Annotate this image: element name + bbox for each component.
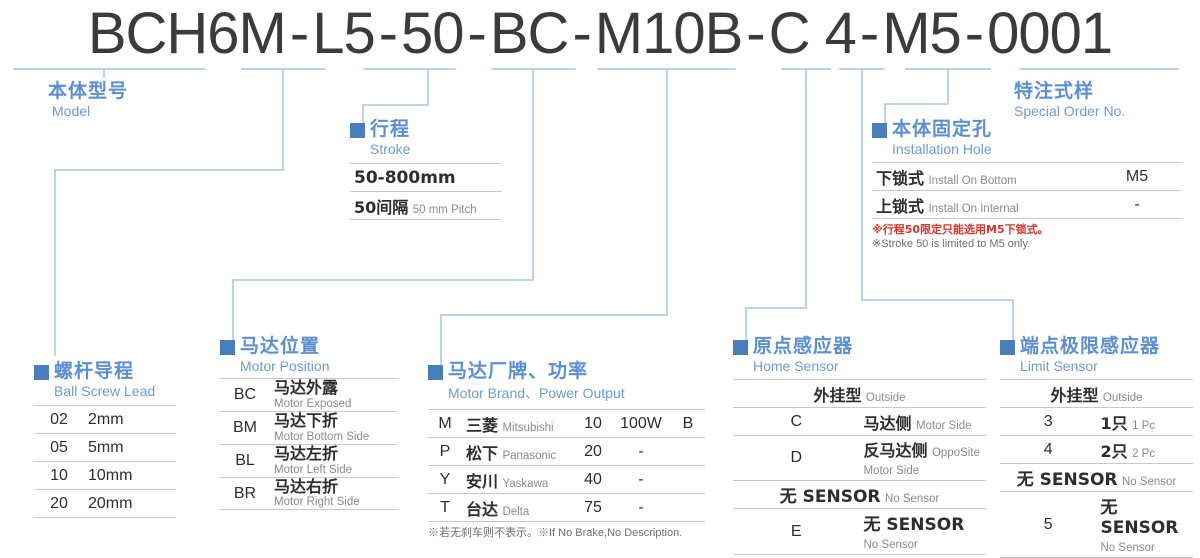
product-code: BCH6M - L5 - 50 - BC - M10B - C 4 - M5 -… <box>0 2 1200 64</box>
callout-motor-position-title: 马达位置 <box>240 337 320 356</box>
callout-motor-position-head: 马达位置 <box>220 337 398 356</box>
home-sensor-en: Motor Side <box>916 420 972 432</box>
callout-ball-screw-lead-subtitle: Ball Screw Lead <box>54 383 176 399</box>
install-internal-cn: 上锁式 <box>876 197 924 216</box>
home-sensor-code: C <box>733 408 860 436</box>
power-value: - <box>611 494 671 522</box>
table-row: 上锁式 Install On Internal - <box>872 191 1182 219</box>
motor-brand-table: M 三菱 Mitsubishi 10 100W B P 松下 Panasonic… <box>428 409 705 522</box>
brake-code <box>671 494 705 522</box>
install-internal-value: - <box>1092 191 1182 219</box>
limit-sensor-header-cn: 外挂型 <box>1050 386 1098 405</box>
code-dash-2: - <box>376 0 400 67</box>
callout-limit-sensor: 端点极限感应器 Limit Sensor 外挂型 Outside 3 1只 1 … <box>1000 337 1193 558</box>
install-note-cn: ※行程50限定只能选用M5下锁式。 <box>872 221 1182 237</box>
motor-position-cn: 马达左折 <box>274 444 338 463</box>
install-internal-label: 上锁式 Install On Internal <box>872 191 1092 219</box>
home-sensor-header-cn: 外挂型 <box>813 386 861 405</box>
callout-model-title: 本体型号 <box>48 82 128 101</box>
limit-sensor-code: 5 <box>1000 492 1097 558</box>
callout-motor-brand-power-title: 马达厂牌、功率 <box>448 362 588 381</box>
power-value: - <box>611 466 671 494</box>
callout-special-order-title: 特注式样 <box>1014 82 1094 101</box>
table-row: 05 5mm <box>34 434 176 462</box>
installation-hole-table: 下锁式 Install On Bottom M5 上锁式 Install On … <box>872 162 1182 219</box>
motor-position-desc: 马达外露 Motor Exposed <box>270 379 398 412</box>
brake-code <box>671 438 705 466</box>
table-row: 10 10mm <box>34 462 176 490</box>
code-dash-3: - <box>465 0 489 67</box>
brand-cn: 安川 <box>466 472 498 491</box>
table-row: BR 马达右折 Motor Right Side <box>220 477 398 510</box>
home-sensor-cn: 反马达侧 <box>864 441 928 460</box>
code-dash-6: - <box>857 0 881 67</box>
motor-position-cn: 马达下折 <box>274 411 338 430</box>
table-row: BL 马达左折 Motor Left Side <box>220 444 398 477</box>
code-dash-7: - <box>962 0 986 67</box>
callout-motor-position-subtitle: Motor Position <box>240 358 398 374</box>
brand-name: 安川 Yaskawa <box>462 466 575 494</box>
ball-screw-lead-table: 02 2mm 05 5mm 10 10mm 20 20mm <box>34 405 176 518</box>
callout-motor-position: 马达位置 Motor Position BC 马达外露 Motor Expose… <box>220 337 398 510</box>
callout-installation-hole-title: 本体固定孔 <box>892 120 992 139</box>
home-sensor-band-en: No Sensor <box>885 493 939 505</box>
limit-sensor-cn: 1只 <box>1101 414 1128 433</box>
home-sensor-band-cn: 无 SENSOR <box>780 487 881 507</box>
motor-position-en: Motor Exposed <box>274 398 394 410</box>
power-value: - <box>611 438 671 466</box>
callout-motor-brand-power: 马达厂牌、功率 Motor Brand、Power Output M 三菱 Mi… <box>428 362 705 540</box>
callout-limit-sensor-subtitle: Limit Sensor <box>1020 358 1193 374</box>
install-bottom-en: Install On Bottom <box>928 175 1016 187</box>
limit-sensor-table: 外挂型 Outside 3 1只 1 Pc 4 2只 2 Pc <box>1000 379 1193 558</box>
lead-value: 20mm <box>84 490 176 518</box>
callout-home-sensor: 原点感应器 Home Sensor 外挂型 Outside C 马达侧 Moto… <box>733 337 986 555</box>
home-sensor-cn: 马达侧 <box>864 414 912 433</box>
motor-position-code: BL <box>220 444 270 477</box>
callout-limit-sensor-title: 端点极限感应器 <box>1020 337 1160 356</box>
install-note: ※行程50限定只能选用M5下锁式。 ※Stroke 50 is limited … <box>872 221 1182 250</box>
bullet-square-icon <box>872 123 887 138</box>
limit-sensor-band-en: No Sensor <box>1122 476 1176 488</box>
bullet-square-icon <box>220 340 235 355</box>
lead-code: 10 <box>34 462 84 490</box>
stroke-pitch-cn: 50间隔 <box>354 198 408 217</box>
stroke-pitch-en: 50 mm Pitch <box>413 204 477 216</box>
motor-position-desc: 马达右折 Motor Right Side <box>270 477 398 510</box>
limit-sensor-code: 4 <box>1000 436 1097 464</box>
table-row: P 松下 Panasonic 20 - <box>428 438 705 466</box>
diagram-canvas: BCH6M - L5 - 50 - BC - M10B - C 4 - M5 -… <box>0 0 1200 549</box>
home-sensor-header: 外挂型 Outside <box>733 380 986 408</box>
code-segment-sensors: C 4 <box>768 0 857 67</box>
home-sensor-desc: 马达侧 Motor Side <box>860 408 987 436</box>
table-row: 5 无 SENSOR No Sensor <box>1000 492 1193 558</box>
stroke-range-cell: 50-800mm <box>350 164 502 192</box>
home-sensor-code: D <box>733 436 860 481</box>
table-row: C 马达侧 Motor Side <box>733 408 986 436</box>
install-note-en: ※Stroke 50 is limited to M5 only. <box>872 237 1182 250</box>
motor-position-desc: 马达下折 Motor Bottom Side <box>270 411 398 444</box>
callout-motor-brand-power-head: 马达厂牌、功率 <box>428 362 705 381</box>
table-row: 下锁式 Install On Bottom M5 <box>872 163 1182 191</box>
limit-sensor-cn: 无 SENSOR <box>1101 498 1179 538</box>
motor-position-cn: 马达右折 <box>274 477 338 496</box>
lead-value: 2mm <box>84 406 176 434</box>
code-segment-motor-position: BC <box>489 0 570 67</box>
callout-stroke-subtitle: Stroke <box>370 141 502 157</box>
brake-code: B <box>671 410 705 438</box>
callout-limit-sensor-head: 端点极限感应器 <box>1000 337 1193 356</box>
callout-model-head: 本体型号 <box>48 82 128 101</box>
lead-value: 10mm <box>84 462 176 490</box>
table-row: 外挂型 Outside <box>733 380 986 408</box>
table-row: BC 马达外露 Motor Exposed <box>220 379 398 412</box>
table-row: 50间隔 50 mm Pitch <box>350 192 502 220</box>
limit-sensor-header-en: Outside <box>1103 392 1143 404</box>
brand-en: Delta <box>502 506 529 518</box>
home-sensor-desc: 反马达侧 OppoSite Motor Side <box>860 436 987 481</box>
callout-home-sensor-subtitle: Home Sensor <box>753 358 986 374</box>
brand-name: 三菱 Mitsubishi <box>462 410 575 438</box>
motor-position-code: BC <box>220 379 270 412</box>
home-sensor-desc: 无 SENSOR No Sensor <box>860 509 987 555</box>
brand-cn: 三菱 <box>466 416 498 435</box>
motor-position-en: Motor Left Side <box>274 464 394 476</box>
callout-special-order-head: 特注式样 <box>1014 82 1125 101</box>
lead-code: 20 <box>34 490 84 518</box>
table-row: 外挂型 Outside <box>1000 380 1193 408</box>
home-sensor-cn: 无 SENSOR <box>864 515 965 535</box>
power-code: 40 <box>575 466 611 494</box>
brake-code <box>671 466 705 494</box>
table-row: 3 1只 1 Pc <box>1000 408 1193 436</box>
callout-special-order-subtitle: Special Order No. <box>1014 103 1125 119</box>
table-row: 50-800mm <box>350 164 502 192</box>
power-code: 75 <box>575 494 611 522</box>
code-dash-1: - <box>287 0 311 67</box>
limit-sensor-desc: 2只 2 Pc <box>1097 436 1194 464</box>
brand-en: Panasonic <box>502 450 556 462</box>
limit-sensor-en: 2 Pc <box>1132 448 1155 460</box>
limit-sensor-band-cn: 无 SENSOR <box>1017 470 1118 490</box>
code-segment-brand-power: M10B <box>594 0 744 67</box>
code-dash-4: - <box>569 0 593 67</box>
limit-sensor-code: 3 <box>1000 408 1097 436</box>
limit-sensor-band: 无 SENSOR No Sensor <box>1000 464 1193 492</box>
limit-sensor-desc: 无 SENSOR No Sensor <box>1097 492 1194 558</box>
power-code: 10 <box>575 410 611 438</box>
table-row: 无 SENSOR No Sensor <box>1000 464 1193 492</box>
motor-position-en: Motor Right Side <box>274 496 394 508</box>
limit-sensor-desc: 1只 1 Pc <box>1097 408 1194 436</box>
table-row: 4 2只 2 Pc <box>1000 436 1193 464</box>
stroke-range-value: 50-800mm <box>354 168 456 188</box>
callout-model: 本体型号 Model <box>48 82 128 119</box>
table-row: Y 安川 Yaskawa 40 - <box>428 466 705 494</box>
brand-name: 台达 Delta <box>462 494 575 522</box>
home-sensor-band: 无 SENSOR No Sensor <box>733 481 986 509</box>
bullet-square-icon <box>428 365 443 380</box>
home-sensor-en: No Sensor <box>864 539 918 551</box>
callout-ball-screw-lead-title: 螺杆导程 <box>54 362 134 381</box>
code-segment-model: BCH6M <box>87 0 287 67</box>
limit-sensor-cn: 2只 <box>1101 442 1128 461</box>
brand-code: T <box>428 494 462 522</box>
lead-code: 02 <box>34 406 84 434</box>
motor-position-table: BC 马达外露 Motor Exposed BM 马达下折 Motor Bott… <box>220 378 398 510</box>
callout-stroke-title: 行程 <box>370 120 410 139</box>
install-bottom-value: M5 <box>1092 163 1182 191</box>
bullet-square-icon <box>350 123 365 138</box>
motor-position-code: BR <box>220 477 270 510</box>
brand-cn: 台达 <box>466 500 498 519</box>
callout-installation-hole-head: 本体固定孔 <box>872 120 1182 139</box>
install-bottom-cn: 下锁式 <box>876 169 924 188</box>
code-segment-install-hole: M5 <box>881 0 962 67</box>
table-row: T 台达 Delta 75 - <box>428 494 705 522</box>
bullet-square-icon <box>34 365 49 380</box>
lead-value: 5mm <box>84 434 176 462</box>
install-internal-en: Install On Internal <box>928 203 1018 215</box>
callout-installation-hole-subtitle: Installation Hole <box>892 141 1182 157</box>
callout-ball-screw-lead: 螺杆导程 Ball Screw Lead 02 2mm 05 5mm 10 10… <box>34 362 176 518</box>
code-segment-stroke: 50 <box>400 0 465 67</box>
limit-sensor-en: No Sensor <box>1101 542 1155 554</box>
bullet-square-icon <box>1000 340 1015 355</box>
table-row: BM 马达下折 Motor Bottom Side <box>220 411 398 444</box>
table-row: M 三菱 Mitsubishi 10 100W B <box>428 410 705 438</box>
brand-note: ※若无刹车则不表示。※If No Brake,No Description. <box>428 524 705 540</box>
code-segment-special-order: 0001 <box>986 0 1113 67</box>
install-bottom-label: 下锁式 Install On Bottom <box>872 163 1092 191</box>
motor-position-en: Motor Bottom Side <box>274 431 394 443</box>
table-row: 20 20mm <box>34 490 176 518</box>
home-sensor-code: E <box>733 509 860 555</box>
table-row: D 反马达侧 OppoSite Motor Side <box>733 436 986 481</box>
callout-model-subtitle: Model <box>52 103 128 119</box>
code-dash-5: - <box>743 0 767 67</box>
brand-en: Yaskawa <box>502 478 548 490</box>
brand-en: Mitsubishi <box>502 422 553 434</box>
code-segment-lead: L5 <box>311 0 376 67</box>
callout-installation-hole: 本体固定孔 Installation Hole 下锁式 Install On B… <box>872 120 1182 250</box>
callout-stroke-head: 行程 <box>350 120 502 139</box>
callout-home-sensor-head: 原点感应器 <box>733 337 986 356</box>
limit-sensor-header: 外挂型 Outside <box>1000 380 1193 408</box>
brand-code: P <box>428 438 462 466</box>
brand-cn: 松下 <box>466 444 498 463</box>
bullet-square-icon <box>733 340 748 355</box>
brand-name: 松下 Panasonic <box>462 438 575 466</box>
lead-code: 05 <box>34 434 84 462</box>
callout-ball-screw-lead-head: 螺杆导程 <box>34 362 176 381</box>
callout-stroke: 行程 Stroke 50-800mm 50间隔 50 mm Pitch <box>350 120 502 220</box>
callout-special-order: 特注式样 Special Order No. <box>1014 82 1125 119</box>
brand-code: Y <box>428 466 462 494</box>
table-row: 无 SENSOR No Sensor <box>733 481 986 509</box>
limit-sensor-en: 1 Pc <box>1132 420 1155 432</box>
brand-code: M <box>428 410 462 438</box>
home-sensor-table: 外挂型 Outside C 马达侧 Motor Side D 反马达侧 Oppo… <box>733 379 986 555</box>
table-row: 02 2mm <box>34 406 176 434</box>
motor-position-cn: 马达外露 <box>274 378 338 397</box>
power-code: 20 <box>575 438 611 466</box>
callout-home-sensor-title: 原点感应器 <box>753 337 853 356</box>
power-value: 100W <box>611 410 671 438</box>
stroke-pitch-cell: 50间隔 50 mm Pitch <box>350 192 502 220</box>
motor-position-desc: 马达左折 Motor Left Side <box>270 444 398 477</box>
home-sensor-header-en: Outside <box>866 392 906 404</box>
stroke-table: 50-800mm 50间隔 50 mm Pitch <box>350 163 502 220</box>
table-row: E 无 SENSOR No Sensor <box>733 509 986 555</box>
motor-position-code: BM <box>220 411 270 444</box>
callout-motor-brand-power-subtitle: Motor Brand、Power Output <box>448 383 705 403</box>
